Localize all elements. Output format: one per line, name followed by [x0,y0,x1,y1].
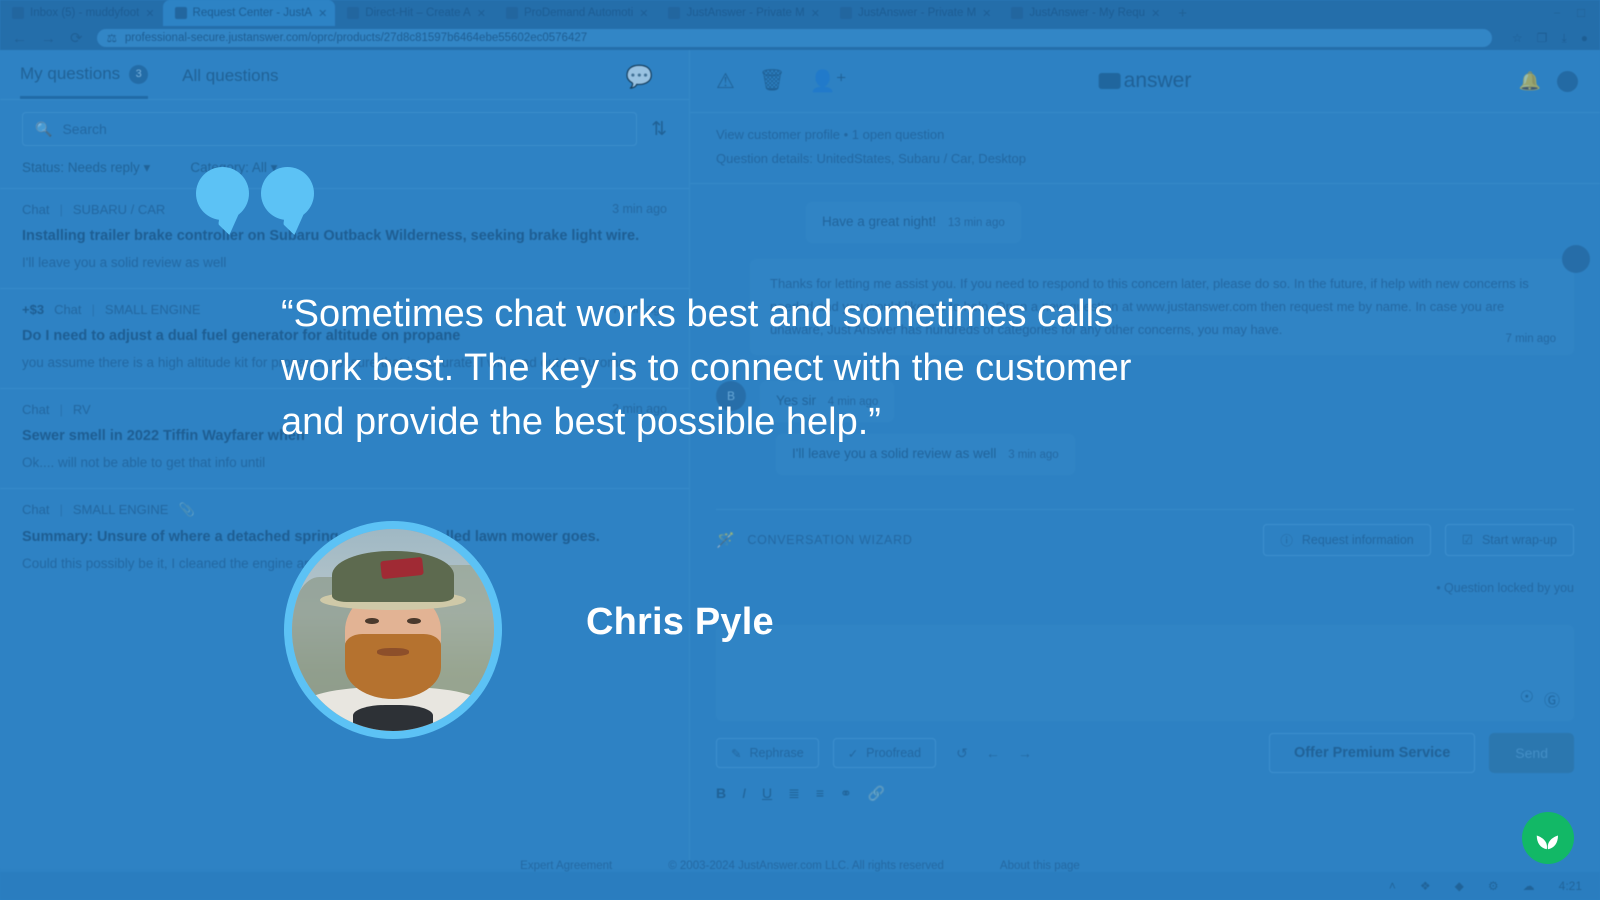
avatar [284,521,502,739]
leaf-glyph-icon [1533,823,1563,853]
quote-overlay: “Sometimes chat works best and sometimes… [0,0,1600,900]
quote-glyph-left-icon [196,167,249,220]
quote-glyph-right-icon [261,167,314,220]
avatar-mouth [377,648,409,656]
leaf-badge-icon[interactable] [1522,812,1574,864]
avatar-collar [353,705,434,731]
quote-line-1: “Sometimes chat works best and sometimes… [281,288,1241,342]
quote-line-2: work best. The key is to connect with th… [281,342,1241,396]
quote-line-3: and provide the best possible help.” [281,396,1241,450]
person-name: Chris Pyle [586,601,774,644]
quotation-mark-icon [196,167,314,220]
quote-text: “Sometimes chat works best and sometimes… [281,288,1241,450]
avatar-beard [345,634,442,699]
